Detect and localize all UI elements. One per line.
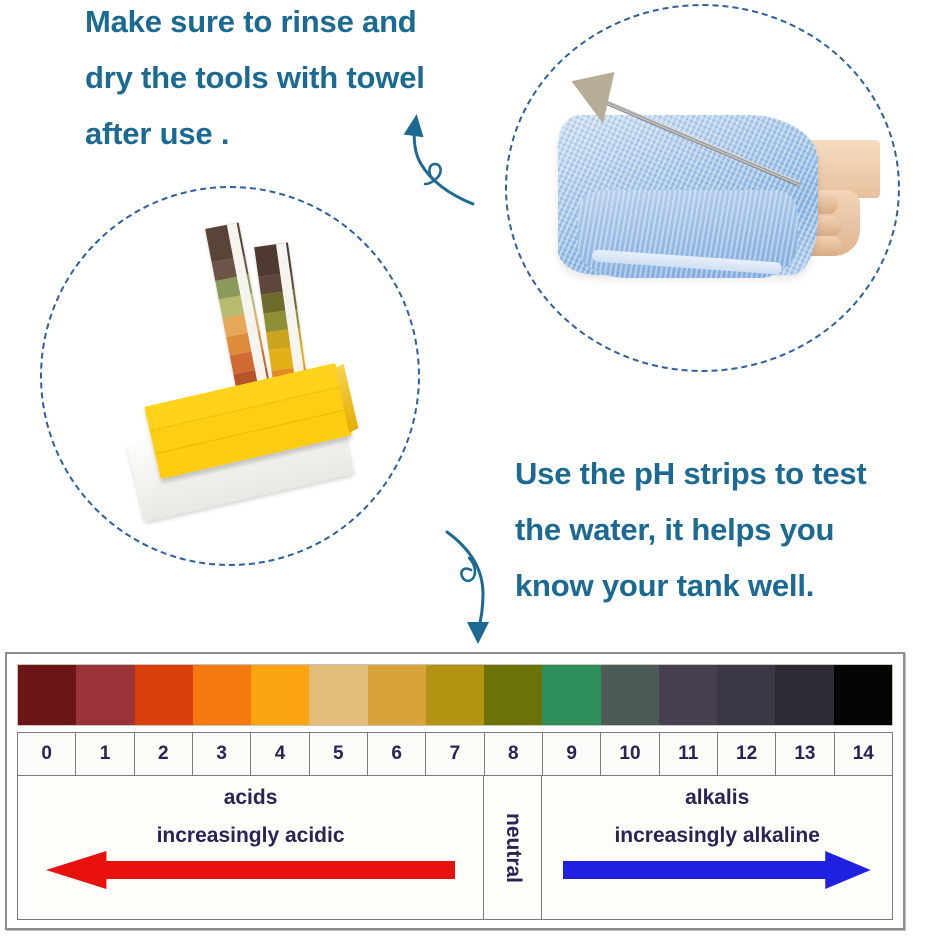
neutral-title: neutral bbox=[501, 812, 525, 882]
ph-zone-alkalis: alkalis increasingly alkaline bbox=[542, 776, 892, 919]
ph-label-14: 14 bbox=[835, 733, 892, 775]
ph-swatch-1 bbox=[76, 665, 134, 725]
ph-swatch-0 bbox=[18, 665, 76, 725]
ph-label-6: 6 bbox=[368, 733, 426, 775]
triangular-scraper-blade bbox=[571, 72, 624, 128]
ph-swatch-7 bbox=[426, 665, 484, 725]
alkalis-title: alkalis bbox=[542, 786, 892, 810]
curved-arrow-down-icon bbox=[425, 522, 545, 652]
ph-label-9: 9 bbox=[543, 733, 601, 775]
ph-swatch-14 bbox=[834, 665, 892, 725]
ph-swatch-11 bbox=[659, 665, 717, 725]
alkalis-subtitle: increasingly alkaline bbox=[542, 824, 892, 848]
ph-swatch-3 bbox=[193, 665, 251, 725]
ph-swatch-5 bbox=[309, 665, 367, 725]
ph-label-8: 8 bbox=[485, 733, 543, 775]
ph-zone-row: acids increasingly acidic neutral alkali… bbox=[17, 776, 893, 920]
ph-label-2: 2 bbox=[135, 733, 193, 775]
ph-zone-neutral: neutral bbox=[484, 776, 542, 919]
ph-color-swatch-bar bbox=[17, 664, 893, 726]
ph-number-row: 0 1 2 3 4 5 6 7 8 9 10 11 12 13 14 bbox=[17, 732, 893, 776]
instruction-use-ph-strips: Use the pH strips to test the water, it … bbox=[515, 446, 915, 614]
ph-label-13: 13 bbox=[776, 733, 834, 775]
photo-ph-strip-booklet bbox=[55, 196, 405, 556]
ph-swatch-10 bbox=[601, 665, 659, 725]
ph-swatch-12 bbox=[717, 665, 775, 725]
ph-swatch-6 bbox=[368, 665, 426, 725]
acids-title: acids bbox=[18, 786, 483, 810]
ph-swatch-2 bbox=[135, 665, 193, 725]
ph-swatch-9 bbox=[542, 665, 600, 725]
ph-zone-acids: acids increasingly acidic bbox=[18, 776, 484, 919]
ph-swatch-4 bbox=[251, 665, 309, 725]
ph-label-11: 11 bbox=[660, 733, 718, 775]
ph-label-10: 10 bbox=[601, 733, 659, 775]
ph-label-1: 1 bbox=[76, 733, 134, 775]
ph-swatch-13 bbox=[775, 665, 833, 725]
ph-label-4: 4 bbox=[251, 733, 309, 775]
ph-label-0: 0 bbox=[18, 733, 76, 775]
photo-hand-drying-with-towel bbox=[540, 40, 880, 340]
increasingly-acidic-arrow-icon bbox=[46, 849, 455, 891]
ph-label-12: 12 bbox=[718, 733, 776, 775]
ph-swatch-8 bbox=[484, 665, 542, 725]
ph-label-7: 7 bbox=[426, 733, 484, 775]
ph-label-3: 3 bbox=[193, 733, 251, 775]
poster-canvas: Make sure to rinse and dry the tools wit… bbox=[0, 0, 927, 941]
acids-subtitle: increasingly acidic bbox=[18, 824, 483, 848]
ph-scale-chart: 0 1 2 3 4 5 6 7 8 9 10 11 12 13 14 acids… bbox=[5, 652, 905, 930]
ph-label-5: 5 bbox=[310, 733, 368, 775]
increasingly-alkaline-arrow-icon bbox=[563, 849, 871, 891]
